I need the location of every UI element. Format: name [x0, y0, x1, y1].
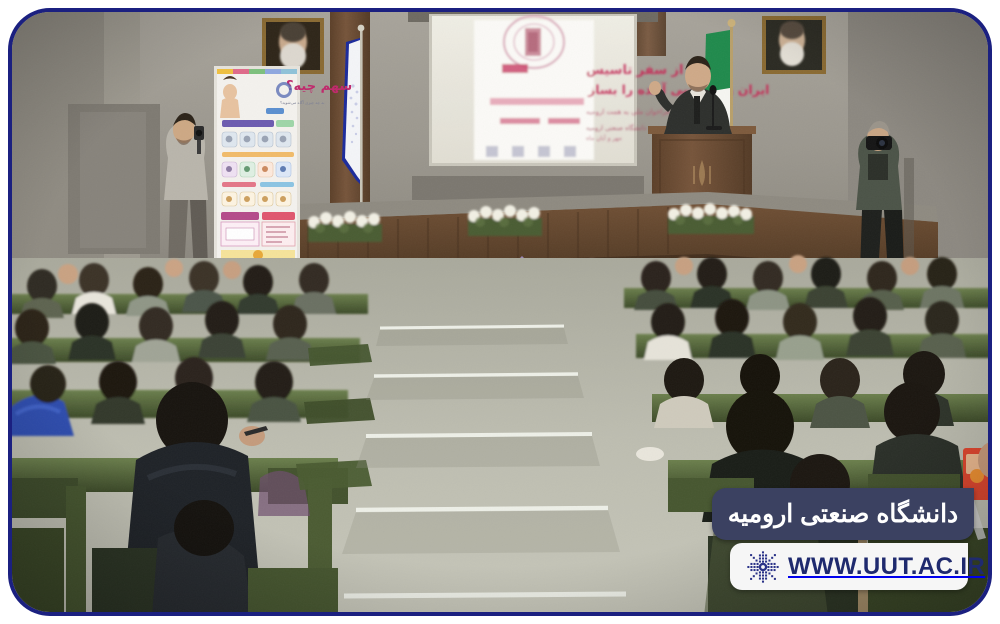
- university-name-text: دانشگاه صنعتی ارومیه: [728, 499, 958, 529]
- watermark-overlay: دانشگاه صنعتی ارومیه: [712, 488, 974, 590]
- uut-dot-matrix-sunburst-logo: [746, 550, 780, 584]
- university-name-bar: دانشگاه صنعتی ارومیه: [712, 488, 974, 540]
- photo-frame: از سفر تاسیس ایران را شناسی آینده را بسا…: [8, 8, 992, 616]
- website-url-bar[interactable]: WWW.UUT.AC.IR: [730, 543, 968, 590]
- screenshot-root: از سفر تاسیس ایران را شناسی آینده را بسا…: [0, 0, 1000, 624]
- website-url-text: WWW.UUT.AC.IR: [788, 553, 985, 581]
